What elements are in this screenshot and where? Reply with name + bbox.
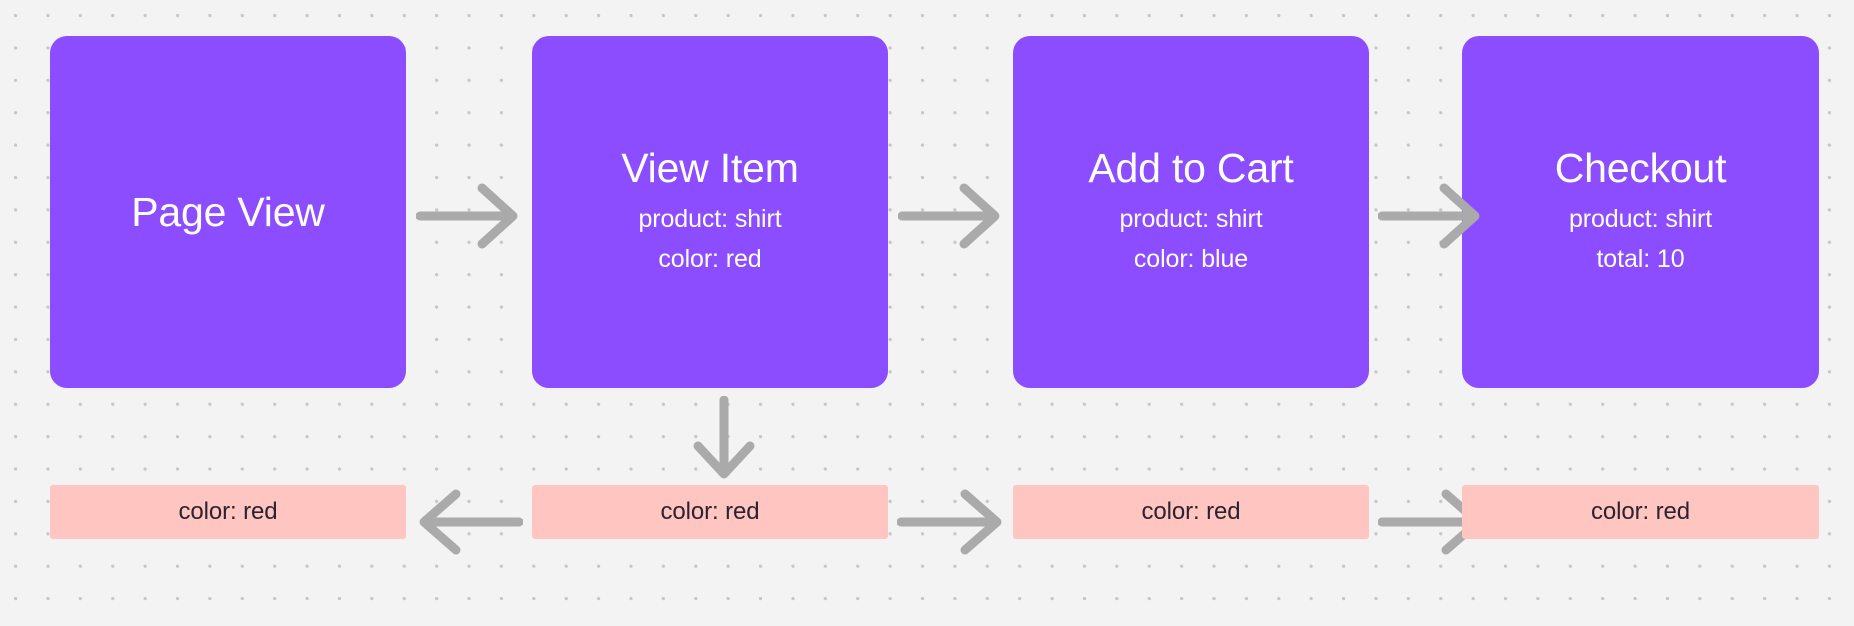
- event-node-property: total: 10: [1596, 239, 1684, 280]
- event-node-properties: product: shirt total: 10: [1569, 199, 1712, 280]
- event-node-property: color: blue: [1134, 239, 1248, 280]
- event-node-property: color: red: [658, 239, 761, 280]
- event-node-title: Checkout: [1555, 144, 1727, 192]
- event-node-property: product: shirt: [1119, 199, 1262, 240]
- event-node-title: Page View: [131, 188, 324, 236]
- property-box-view-item[interactable]: color: red: [532, 485, 888, 539]
- arrow-right-icon: [1378, 180, 1483, 252]
- event-node-properties: product: shirt color: blue: [1119, 199, 1262, 280]
- property-box-label: color: red: [660, 498, 759, 526]
- event-node-title: View Item: [621, 144, 798, 192]
- property-box-label: color: red: [178, 498, 277, 526]
- event-node-property: product: shirt: [638, 199, 781, 240]
- property-box-label: color: red: [1591, 498, 1690, 526]
- property-box-page-view[interactable]: color: red: [50, 485, 406, 539]
- event-node-properties: product: shirt color: red: [638, 199, 781, 280]
- property-box-add-to-cart[interactable]: color: red: [1013, 485, 1369, 539]
- arrow-right-icon: [898, 180, 1003, 252]
- arrow-right-icon: [416, 180, 521, 252]
- event-node-title: Add to Cart: [1088, 144, 1293, 192]
- event-node-property: product: shirt: [1569, 199, 1712, 240]
- arrow-right-icon: [897, 487, 1005, 557]
- property-box-checkout[interactable]: color: red: [1462, 485, 1819, 539]
- arrow-left-icon: [415, 487, 523, 557]
- event-node-page-view[interactable]: Page View: [50, 36, 406, 388]
- event-node-add-to-cart[interactable]: Add to Cart product: shirt color: blue: [1013, 36, 1369, 388]
- event-node-view-item[interactable]: View Item product: shirt color: red: [532, 36, 888, 388]
- arrow-down-icon: [688, 396, 760, 481]
- property-box-label: color: red: [1141, 498, 1240, 526]
- diagram-canvas: Page View View Item product: shirt color…: [0, 0, 1854, 626]
- event-node-checkout[interactable]: Checkout product: shirt total: 10: [1462, 36, 1819, 388]
